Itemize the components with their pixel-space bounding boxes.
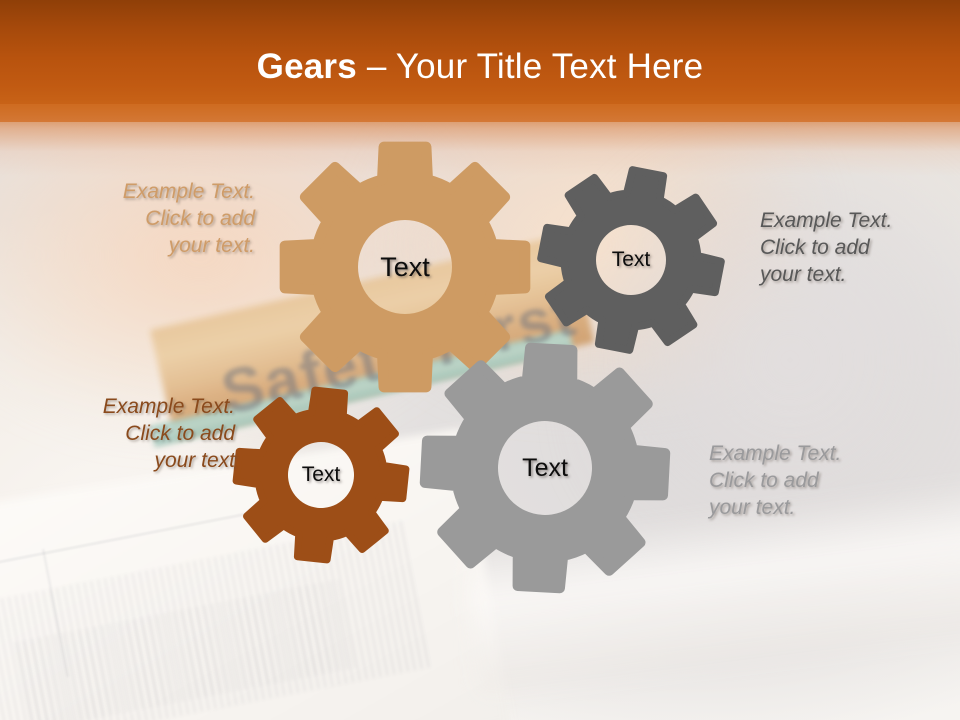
gear-brown[interactable]: Text xyxy=(222,376,420,574)
callout-bottom-right-line2: Click to add xyxy=(709,467,909,494)
page-title-strong: Gears xyxy=(257,47,357,86)
callout-top-left-line1: Example Text. xyxy=(80,178,255,205)
slide-canvas: Safety First Gears – Your Title Text Her… xyxy=(0,0,960,720)
gear-light-gray[interactable]: Text xyxy=(410,333,680,603)
callout-top-right-line2: Click to add xyxy=(760,234,960,261)
callout-top-right[interactable]: Example Text. Click to add your text. xyxy=(760,207,960,288)
callout-bottom-left-line3: your text xyxy=(45,447,235,474)
callout-bottom-right-line1: Example Text. xyxy=(709,440,909,467)
callout-bottom-left-line2: Click to add xyxy=(45,420,235,447)
gear-light-gray-body xyxy=(420,343,670,593)
callout-bottom-right-line3: your text. xyxy=(709,494,909,521)
callout-bottom-left-line1: Example Text. xyxy=(45,393,235,420)
page-title: Gears – Your Title Text Here xyxy=(0,46,960,88)
callout-top-left-line3: your text. xyxy=(80,232,255,259)
callout-top-left-line2: Click to add xyxy=(80,205,255,232)
callout-top-right-line1: Example Text. xyxy=(760,207,960,234)
gear-brown-body xyxy=(229,383,413,567)
callout-top-right-line3: your text. xyxy=(760,261,960,288)
page-title-rest: – Your Title Text Here xyxy=(357,47,703,86)
callout-top-left[interactable]: Example Text. Click to add your text. xyxy=(80,178,255,259)
callout-bottom-right[interactable]: Example Text. Click to add your text. xyxy=(709,440,909,521)
callout-bottom-left[interactable]: Example Text. Click to add your text xyxy=(45,393,235,474)
